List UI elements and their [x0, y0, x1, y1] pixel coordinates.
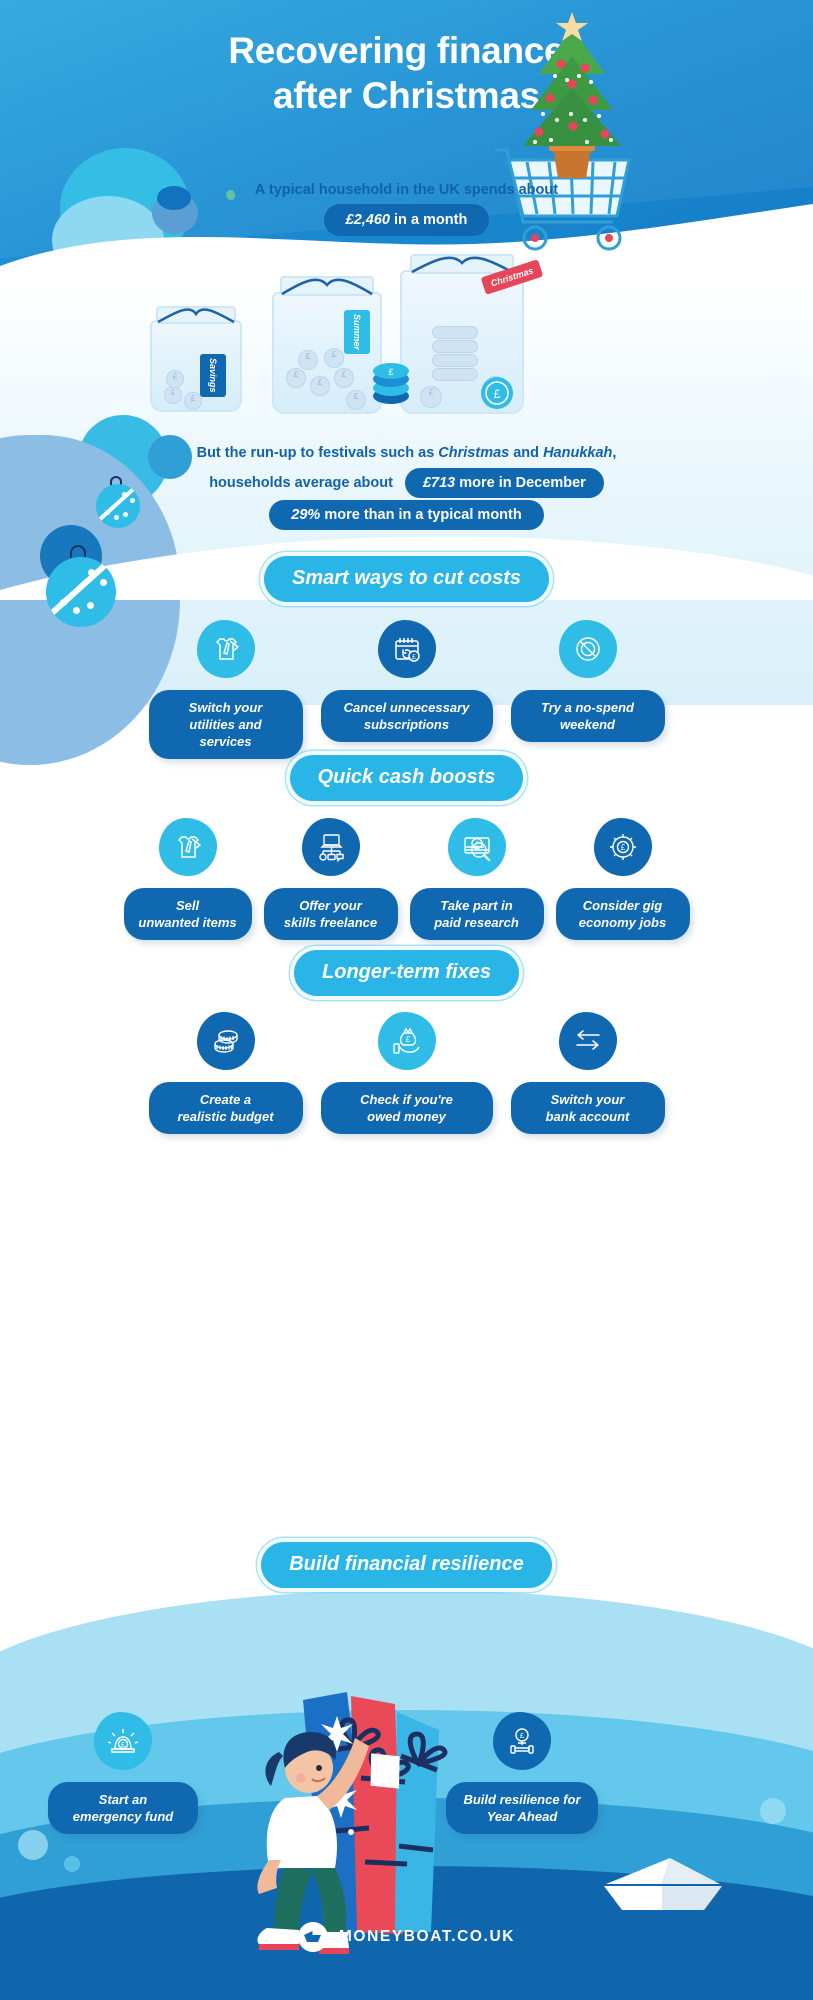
item-label: Start anemergency fund — [48, 1782, 198, 1834]
item-label-line2: paid research — [434, 915, 519, 930]
intro-amount-pill-wrap: £2,460 in a month — [0, 204, 813, 236]
item-cancel-subscriptions[interactable]: £ Cancel unnecessarysubscriptions — [321, 620, 493, 759]
floating-coin-stack: £ — [371, 362, 411, 406]
jar-summer: Summer £ £ £ £ £ £ — [268, 272, 386, 412]
festive-line1-hanukkah: Hanukkah — [543, 445, 612, 461]
calendar-refresh-pound-icon: £ — [378, 620, 436, 678]
item-label-line1: Build resilience for — [463, 1792, 580, 1807]
item-label-line2: emergency fund — [73, 1809, 173, 1824]
section-banner-longer-term: Longer-term fixes — [294, 950, 519, 996]
item-emergency-fund[interactable]: £ Start anemergency fund — [48, 1712, 198, 1834]
monthly-spend-value: £2,460 — [346, 212, 390, 228]
svg-text:£: £ — [412, 654, 416, 661]
coin: £ — [166, 370, 184, 388]
festive-stat-line1: But the run-up to festivals such as Chri… — [0, 445, 813, 461]
scene-decor-dot — [760, 1798, 786, 1824]
jar-savings: Savings £ £ £ — [146, 302, 246, 412]
monthly-spend-rest: in a month — [394, 212, 467, 228]
item-label: Build resilience forYear Ahead — [446, 1782, 598, 1834]
december-extra-value: £713 — [423, 475, 455, 491]
gig-clock-pound-icon: £ — [594, 818, 652, 876]
svg-text:£: £ — [121, 1742, 125, 1749]
coin — [432, 368, 478, 381]
item-label: Check if you'reowed money — [321, 1082, 493, 1134]
scene-decor-dot — [64, 1856, 80, 1872]
section-banner-longer-term-wrap: Longer-term fixes — [0, 950, 813, 996]
coin: £ — [286, 368, 306, 388]
jar-string — [150, 302, 242, 332]
intro-lead-text: A typical household in the UK spends abo… — [0, 182, 813, 198]
coin — [432, 354, 478, 367]
coin: £ — [310, 376, 330, 396]
item-no-spend-weekend[interactable]: Try a no-spendweekend — [511, 620, 665, 759]
item-label-line1: Cancel unnecessary — [344, 700, 470, 715]
infographic-page: Recovering finances after Christmas — [0, 0, 813, 2000]
festive-line2-text: households average about — [209, 475, 393, 491]
item-label: Switch yourutilities and services — [149, 690, 303, 759]
item-label-line2: owed money — [367, 1109, 446, 1124]
svg-text:£: £ — [520, 1731, 525, 1740]
tshirt-tag-icon — [159, 818, 217, 876]
footer-brand: MONEYBOAT.CO.UK — [339, 1928, 515, 1946]
coin: £ — [298, 350, 318, 370]
item-owed-money[interactable]: £ Check if you'reowed money — [321, 1012, 493, 1134]
item-label-line2: realistic budget — [177, 1109, 273, 1124]
coin: £ — [324, 348, 344, 368]
item-label: Sellunwanted items — [124, 888, 252, 940]
item-label: Consider gigeconomy jobs — [556, 888, 690, 940]
item-label-line2: subscriptions — [364, 717, 449, 732]
jar-string — [272, 272, 382, 304]
item-label-line1: Offer your — [299, 898, 362, 913]
item-label-line1: Switch your — [551, 1092, 625, 1107]
item-label-line1: Sell — [176, 898, 199, 913]
section-banner-resilience-wrap: Build financial resilience — [0, 1542, 813, 1588]
item-label-line2: utilities and services — [189, 717, 261, 749]
coin-stack-icon — [197, 1012, 255, 1070]
item-offer-skills[interactable]: Offer yourskills freelance — [264, 818, 398, 940]
section-banner-resilience: Build financial resilience — [261, 1542, 552, 1588]
dumbbell-pound-icon: £ — [493, 1712, 551, 1770]
item-label: Switch yourbank account — [511, 1082, 665, 1134]
banknote-magnifier-icon: £ — [448, 818, 506, 876]
svg-text:£: £ — [388, 367, 393, 377]
item-label-line1: Switch your — [189, 700, 263, 715]
december-extra-rest: more in December — [459, 475, 586, 491]
item-build-resilience[interactable]: £ Build resilience forYear Ahead — [446, 1712, 598, 1834]
monthly-spend-pill: £2,460 in a month — [324, 204, 490, 236]
item-label-line2: Year Ahead — [487, 1809, 558, 1824]
no-spend-circle-icon — [559, 620, 617, 678]
item-sell-unwanted[interactable]: Sellunwanted items — [124, 818, 252, 940]
item-label: Offer yourskills freelance — [264, 888, 398, 940]
moneyboat-boat-icon — [298, 1922, 328, 1952]
item-label-line1: Take part in — [440, 898, 512, 913]
jar-savings-tag: Savings — [200, 354, 226, 397]
section-items-longer-term: Create arealistic budget £ Check if you'… — [0, 1012, 813, 1134]
item-create-budget[interactable]: Create arealistic budget — [149, 1012, 303, 1134]
item-label-line2: bank account — [546, 1109, 630, 1124]
section-banner-cut-costs-wrap: Smart ways to cut costs — [0, 556, 813, 602]
jar-summer-tag: Summer — [344, 310, 370, 354]
item-label-line2: unwanted items — [138, 915, 236, 930]
item-gig-economy[interactable]: £ Consider gigeconomy jobs — [556, 818, 690, 940]
item-label-line2: economy jobs — [579, 915, 666, 930]
swap-arrows-card-icon — [559, 1012, 617, 1070]
item-label-line1: Consider gig — [583, 898, 662, 913]
paper-boat-icon — [600, 1840, 730, 1920]
festive-line1-c: , — [612, 445, 616, 461]
item-label-line1: Try a no-spend — [541, 700, 634, 715]
savings-jars-illustration: Savings £ £ £ Summer £ £ £ £ £ £ — [0, 250, 813, 425]
floating-coin: £ — [480, 376, 514, 410]
coin: £ — [420, 386, 442, 408]
coin — [432, 326, 478, 339]
item-label-line2: weekend — [560, 717, 615, 732]
section-items-cut-costs: Switch yourutilities and services £ Canc… — [0, 620, 813, 759]
item-switch-utilities[interactable]: Switch yourutilities and services — [149, 620, 303, 759]
laptop-network-icon — [302, 818, 360, 876]
festive-line1-b: and — [509, 445, 543, 461]
tshirt-tag-icon — [197, 620, 255, 678]
coin: £ — [334, 368, 354, 388]
item-label-line1: Create a — [200, 1092, 251, 1107]
item-label-line2: skills freelance — [284, 915, 377, 930]
emergency-alarm-pound-icon: £ — [94, 1712, 152, 1770]
section-banner-cash-boosts-wrap: Quick cash boosts — [0, 755, 813, 801]
section-banner-cash-boosts: Quick cash boosts — [290, 755, 524, 801]
footer: MONEYBOAT.CO.UK — [0, 1922, 813, 1952]
section-banner-cut-costs: Smart ways to cut costs — [264, 556, 549, 602]
coin: £ — [346, 390, 366, 410]
svg-text:£: £ — [405, 1035, 410, 1044]
svg-text:£: £ — [494, 387, 501, 401]
festive-line1-christmas: Christmas — [438, 445, 509, 461]
item-label: Try a no-spendweekend — [511, 690, 665, 742]
festive-line1-a: But the run-up to festivals such as — [197, 445, 439, 461]
item-switch-bank[interactable]: Switch yourbank account — [511, 1012, 665, 1134]
item-label: Cancel unnecessarysubscriptions — [321, 690, 493, 742]
item-label: Create arealistic budget — [149, 1082, 303, 1134]
item-label-line1: Start an — [99, 1792, 147, 1807]
item-label-line1: Check if you're — [360, 1092, 453, 1107]
scene-decor-dot — [18, 1830, 48, 1860]
coin — [432, 340, 478, 353]
hand-money-bag-icon: £ — [378, 1012, 436, 1070]
page-title: Recovering finances after Christmas — [0, 28, 813, 118]
item-paid-research[interactable]: £ Take part inpaid research — [410, 818, 544, 940]
item-label: Take part inpaid research — [410, 888, 544, 940]
coin: £ — [184, 392, 202, 410]
svg-text:£: £ — [620, 843, 625, 852]
coin: £ — [164, 386, 182, 404]
december-extra-pill: £713 more in December — [405, 468, 604, 498]
section-items-cash-boosts: Sellunwanted items Offer yourskills free… — [0, 818, 813, 940]
